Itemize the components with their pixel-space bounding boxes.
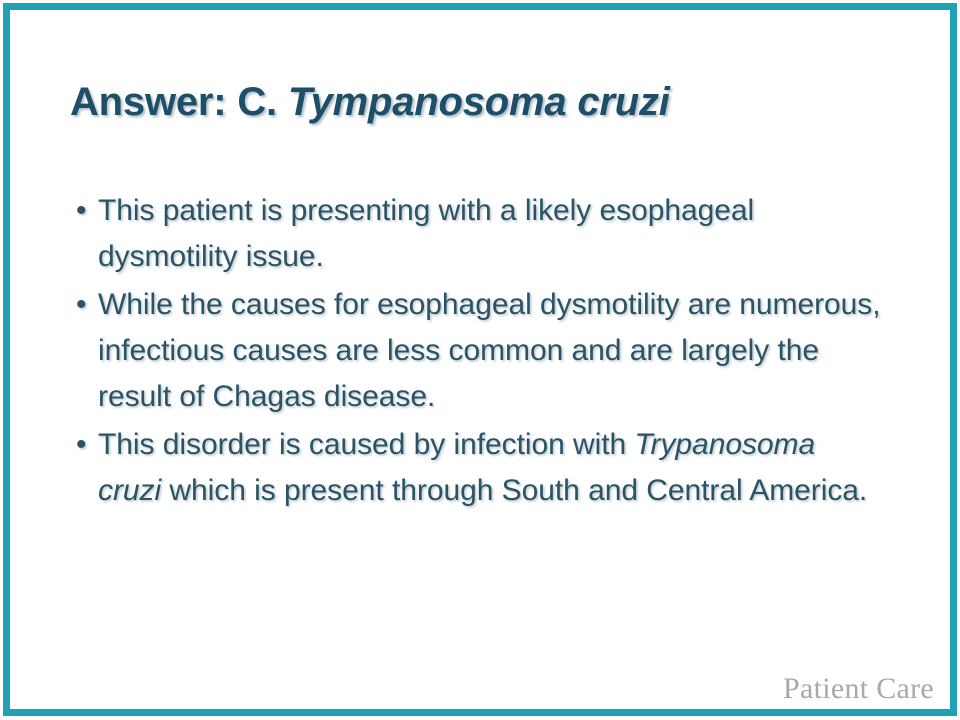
bullet-text: This disorder is caused by infection wit… [98,422,886,514]
bullet-text: This patient is presenting with a likely… [98,188,873,280]
list-item: • This disorder is caused by infection w… [76,422,886,514]
slide-title: Answer: C. Tympanosoma cruzi [70,78,900,126]
list-item: • This patient is presenting with a like… [76,188,886,280]
bullet-list: • This patient is presenting with a like… [76,188,886,516]
title-species-name: Tympanosoma cruzi [288,80,670,124]
slide-border-right [950,3,957,716]
bullet-text-tail: which is present through South and Centr… [161,474,867,507]
bullet-text-lead: This disorder is caused by infection wit… [98,428,634,461]
bullet-point-icon: • [76,282,98,328]
bullet-point-icon: • [76,422,98,468]
slide-canvas: Answer: C. Tympanosoma cruzi • This pati… [0,0,960,720]
slide-border-bottom [3,709,957,716]
slide-border-top [3,3,957,10]
slide-border-left [3,3,10,716]
patient-care-logo: Patient Care [783,672,934,706]
list-item: • While the causes for esophageal dysmot… [76,282,886,420]
bullet-text: While the causes for esophageal dysmotil… [98,282,886,420]
bullet-point-icon: • [76,188,98,234]
title-prefix: Answer: C. [70,80,288,124]
